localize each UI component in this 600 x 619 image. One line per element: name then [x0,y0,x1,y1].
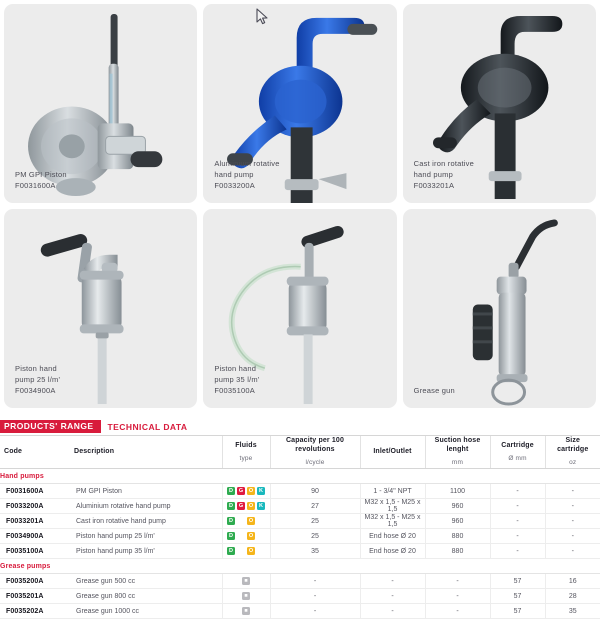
cell-cartridge: 57 [490,589,545,604]
fluid-badge-O: O [247,547,255,555]
table-row[interactable]: F0035100APiston hand pump 35 l/m'D O 35E… [0,544,600,559]
product-caption-piston-hand-pump-35: Piston hand pump 35 l/m' F0035100A [214,364,259,397]
table-group-header: Grease pumps [0,559,600,574]
fluid-badge-K: K [257,502,265,510]
cell-fluids: ■ [222,574,270,589]
fluid-badge-O: O [247,517,255,525]
cell-code: F0033200A [0,499,70,514]
fluid-badge-D: D [227,532,235,540]
fluid-badge-O: O [247,487,255,495]
cell-cartridge: - [490,484,545,499]
product-card-piston-hand-pump-35[interactable]: Piston hand pump 35 l/m' F0035100A [203,209,396,408]
cell-inlet-outlet: 1 - 3/4" NPT [360,484,425,499]
fluid-badge-D: D [227,487,235,495]
cell-fluids: D O [222,514,270,529]
cell-capacity: - [270,574,360,589]
products-range-tag: PRODUCTS' RANGE [0,420,101,433]
fluid-badge-empty [237,547,245,555]
table-header-row: CodeDescriptionFluidstypeCapacity per 10… [0,436,600,469]
cell-capacity: 25 [270,529,360,544]
cell-description: Aluminium rotative hand pump [70,499,222,514]
cell-code: F0035202A [0,604,70,619]
fluid-badge-D: D [227,517,235,525]
cell-size-cartridge: - [545,484,600,499]
column-header-label: Code [0,447,70,456]
cell-capacity: - [270,589,360,604]
cell-size-cartridge: - [545,499,600,514]
cell-code: F0033201A [0,514,70,529]
cell-capacity: - [270,604,360,619]
cell-suction-hose-length: - [425,589,490,604]
group-title: Hand pumps [0,469,600,484]
cell-suction-hose-length: 880 [425,529,490,544]
cell-capacity: 25 [270,514,360,529]
column-header-inlet-outlet: Inlet/Outlet [360,436,425,469]
cell-size-cartridge: 16 [545,574,600,589]
cell-fluids: D O [222,544,270,559]
table-row[interactable]: F0035202AGrease gun 1000 cc■---5735 [0,604,600,619]
technical-data-header: PRODUCTS' RANGE TECHNICAL DATA [0,420,600,433]
product-card-piston-hand-pump-25[interactable]: Piston hand pump 25 l/m' F0034900A [4,209,197,408]
column-header-unit: l/cycle [271,459,360,467]
cell-fluids: ■ [222,589,270,604]
fluid-badge-O: O [247,502,255,510]
cell-description: Piston hand pump 25 l/m' [70,529,222,544]
cell-code: F0034900A [0,529,70,544]
cell-description: Cast iron rotative hand pump [70,514,222,529]
product-caption-pm-gpi-piston: PM GPI Piston F0031600A [15,170,67,192]
technical-data-table: CodeDescriptionFluidstypeCapacity per 10… [0,435,600,619]
fluid-badge-D: D [227,502,235,510]
cell-inlet-outlet: - [360,574,425,589]
product-caption-piston-hand-pump-25: Piston hand pump 25 l/m' F0034900A [15,364,60,397]
product-caption-grease-gun: Grease gun [414,386,455,397]
cell-code: F0031600A [0,484,70,499]
cell-inlet-outlet: M32 x 1,5 - M25 x 1,5 [360,514,425,529]
table-row[interactable]: F0035200AGrease gun 500 cc■---5716 [0,574,600,589]
column-header-unit: mm [426,459,490,467]
cell-inlet-outlet: M32 x 1,5 - M25 x 1,5 [360,499,425,514]
column-header-label: Inlet/Outlet [361,447,425,456]
column-header-label: Fluids [223,441,270,450]
cell-size-cartridge: - [545,544,600,559]
column-header-unit: type [223,455,270,463]
table-row[interactable]: F0034900APiston hand pump 25 l/m'D O 25E… [0,529,600,544]
cell-suction-hose-length: 960 [425,514,490,529]
column-header-label: Cartridge [491,441,545,450]
column-header-fluids: Fluidstype [222,436,270,469]
cell-cartridge: - [490,544,545,559]
cell-description: PM GPI Piston [70,484,222,499]
cell-capacity: 90 [270,484,360,499]
product-caption-cast-iron-rotative-pump: Cast iron rotative hand pump F0033201A [414,159,474,192]
fluid-badge-empty [257,532,265,540]
cell-code: F0035100A [0,544,70,559]
technical-data-section: PRODUCTS' RANGE TECHNICAL DATA CodeDescr… [0,420,600,619]
cell-description: Grease gun 1000 cc [70,604,222,619]
fluid-badge-G: G [237,487,245,495]
cell-suction-hose-length: 1100 [425,484,490,499]
fluid-badge-O: O [247,532,255,540]
cell-inlet-outlet: End hose Ø 20 [360,544,425,559]
table-row[interactable]: F0031600APM GPI PistonDGOK901 - 3/4" NPT… [0,484,600,499]
cell-size-cartridge: - [545,514,600,529]
column-header-label: Capacity per 100 revolutions [271,436,360,454]
cell-capacity: 35 [270,544,360,559]
cell-size-cartridge: 28 [545,589,600,604]
product-image-grease-gun [403,209,596,408]
fluid-badge-empty [237,532,245,540]
group-title: Grease pumps [0,559,600,574]
cell-cartridge: - [490,499,545,514]
table-group-header: Hand pumps [0,469,600,484]
fluid-badge-K: K [257,487,265,495]
table-row[interactable]: F0033201ACast iron rotative hand pumpD O… [0,514,600,529]
cell-cartridge: - [490,514,545,529]
column-header-unit: oz [546,459,600,467]
cell-size-cartridge: - [545,529,600,544]
column-header-description: Description [70,436,222,469]
fluid-badge-grease: ■ [242,607,250,615]
cell-inlet-outlet: - [360,589,425,604]
column-header-unit: Ø mm [491,455,545,463]
column-header-label: Description [70,447,222,456]
cell-fluids: DGOK [222,484,270,499]
table-row[interactable]: F0035201AGrease gun 800 cc■---5728 [0,589,600,604]
cell-suction-hose-length: - [425,574,490,589]
column-header-label: Size cartridge [546,436,600,454]
cell-cartridge: 57 [490,604,545,619]
cell-capacity: 27 [270,499,360,514]
cell-fluids: ■ [222,604,270,619]
fluid-badge-D: D [227,547,235,555]
cell-description: Piston hand pump 35 l/m' [70,544,222,559]
cell-size-cartridge: 35 [545,604,600,619]
cell-description: Grease gun 800 cc [70,589,222,604]
column-header-label: Suction hose lenght [426,436,490,454]
product-gallery: PM GPI Piston F0031600A Aluminium rotati… [0,0,600,412]
cell-cartridge: 57 [490,574,545,589]
cell-suction-hose-length: 960 [425,499,490,514]
column-header-suction-hose-lenght: Suction hose lenghtmm [425,436,490,469]
product-card-cast-iron-rotative-pump[interactable]: Cast iron rotative hand pump F0033201A [403,4,596,203]
product-caption-aluminium-rotative-pump: Aluminium rotative hand pump F0033200A [214,159,279,192]
product-catalogue-page: PM GPI Piston F0031600A Aluminium rotati… [0,0,600,600]
cell-cartridge: - [490,529,545,544]
cell-fluids: DGOK [222,499,270,514]
fluid-badge-empty [257,517,265,525]
column-header-code: Code [0,436,70,469]
cell-fluids: D O [222,529,270,544]
fluid-badge-grease: ■ [242,592,250,600]
column-header-size-cartridge: Size cartridgeoz [545,436,600,469]
fluid-badge-grease: ■ [242,577,250,585]
column-header-cartridge: CartridgeØ mm [490,436,545,469]
cell-code: F0035200A [0,574,70,589]
technical-data-subtitle: TECHNICAL DATA [101,422,188,432]
cell-suction-hose-length: - [425,604,490,619]
column-header-capacity-per-100-revolutions: Capacity per 100 revolutionsl/cycle [270,436,360,469]
cell-code: F0035201A [0,589,70,604]
table-row[interactable]: F0033200AAluminium rotative hand pumpDGO… [0,499,600,514]
product-card-aluminium-rotative-pump[interactable]: Aluminium rotative hand pump F0033200A [203,4,396,203]
fluid-badge-empty [257,547,265,555]
cell-inlet-outlet: - [360,604,425,619]
product-card-grease-gun[interactable]: Grease gun [403,209,596,408]
fluid-badge-empty [237,517,245,525]
cell-description: Grease gun 500 cc [70,574,222,589]
cell-suction-hose-length: 880 [425,544,490,559]
cell-inlet-outlet: End hose Ø 20 [360,529,425,544]
product-card-pm-gpi-piston[interactable]: PM GPI Piston F0031600A [4,4,197,203]
fluid-badge-G: G [237,502,245,510]
